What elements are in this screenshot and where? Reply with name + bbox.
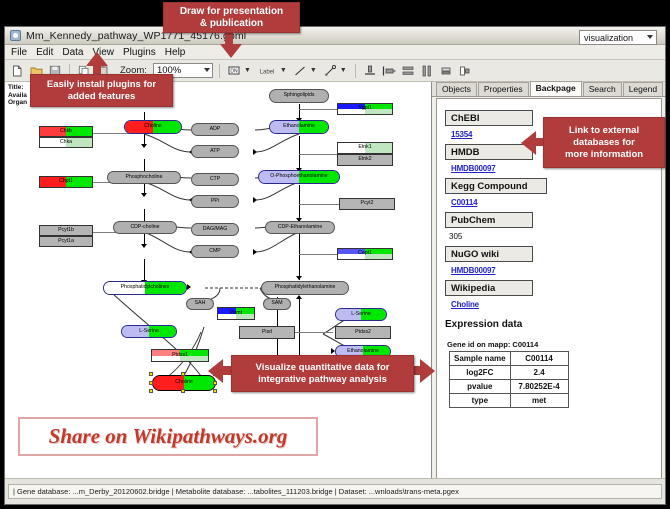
node-label: Pcyt2: [361, 201, 374, 206]
line-icon[interactable]: [292, 63, 308, 79]
edge: [299, 234, 300, 280]
chevron-down-icon: [647, 35, 653, 39]
node-ppi[interactable]: PPi: [191, 195, 239, 208]
node-sam[interactable]: SAM: [263, 298, 291, 310]
edge: [299, 254, 337, 255]
node-l-serine-left[interactable]: L-Serine: [121, 325, 177, 338]
callout-plugins-arrow: [86, 52, 108, 66]
arrow-icon: [187, 284, 191, 290]
gene-chka[interactable]: Chka: [39, 137, 93, 148]
kegg-link[interactable]: C00114: [451, 198, 661, 207]
node-atp[interactable]: ATP: [191, 145, 239, 158]
pathway-info-labels: Title: Availa Organ: [8, 84, 27, 107]
chevron-down-icon[interactable]: ▼: [310, 67, 317, 74]
pubchem-value: 305: [449, 232, 661, 241]
edge: [311, 332, 333, 333]
edge: [299, 136, 300, 170]
node-label: Sgpl1: [358, 106, 371, 111]
edge: [299, 185, 300, 221]
gene-pcyt1b[interactable]: Pcyt1b: [39, 225, 93, 236]
stack-icon[interactable]: [438, 63, 454, 79]
node-cmp[interactable]: CMP: [191, 245, 239, 258]
selection-handle[interactable]: [149, 372, 153, 376]
toolbar-separator: [219, 64, 220, 78]
node-label: Ethanolamine: [347, 349, 379, 354]
selection-handle[interactable]: [149, 381, 153, 385]
node-label: Cept1: [358, 251, 372, 256]
info-title-label: Title:: [8, 84, 27, 92]
node-label: Phosphatidylethanolamine: [275, 285, 336, 290]
node-label: CDP-choline: [130, 225, 159, 230]
anchor-icon[interactable]: [322, 63, 338, 79]
node-cdp-ethanolamine[interactable]: CDP-Ethanolamine: [265, 221, 335, 234]
arrow-icon: [253, 197, 257, 203]
cell-name: Sample name: [450, 352, 511, 366]
arrow-icon: [296, 276, 302, 280]
cell-name: type: [450, 394, 511, 408]
gene-pcyt1a[interactable]: Pcyt1a: [39, 236, 93, 247]
gene-chpt1[interactable]: Chpt1: [39, 176, 93, 188]
node-label: ADP: [210, 127, 221, 132]
arrow-icon: [253, 249, 257, 255]
table-row: pvalue 7.80252E-4: [450, 380, 569, 394]
node-label: Etnk1: [358, 145, 371, 150]
status-text: | Gene database: ...m_Derby_20120602.bri…: [8, 484, 662, 499]
menu-item-data[interactable]: Data: [62, 47, 83, 58]
status-bar: | Gene database: ...m_Derby_20120602.bri…: [5, 478, 665, 504]
app-icon: [10, 30, 21, 41]
node-sphingolipids[interactable]: Sphingolipids: [269, 89, 329, 103]
arrow-icon: [141, 144, 147, 148]
node-adp[interactable]: ADP: [191, 123, 239, 136]
node-label: Phosphatidylcholines: [121, 285, 170, 290]
cell-value: met: [510, 394, 568, 408]
tab-search[interactable]: Search: [583, 82, 622, 96]
node-label: Phosphocholine: [126, 175, 163, 180]
node-label: L-Serine: [139, 329, 159, 334]
side-panel-tabs: Objects Properties Backpage Search Legen…: [432, 82, 665, 97]
svg-text:DN: DN: [230, 69, 238, 75]
arrow-icon: [296, 295, 302, 299]
node-label: Pcyt1a: [58, 239, 74, 244]
callout-visualize: Visualize quantitative data for integrat…: [231, 355, 414, 392]
node-ctp[interactable]: CTP: [191, 173, 239, 186]
section-hmdb-header: HMDB: [445, 144, 533, 160]
gene-etnk2[interactable]: Etnk2: [337, 154, 393, 166]
callout-draw-line2: & publication: [180, 18, 283, 30]
gene-id-line: Gene id on mapp: C00114: [447, 340, 661, 349]
arrow-icon: [141, 244, 147, 248]
callout-draw-line1: Draw for presentation: [180, 6, 283, 18]
node-label: Pisd: [262, 330, 272, 335]
node-label: CDP-Ethanolamine: [278, 225, 322, 230]
section-nugo-header: NuGO wiki: [445, 246, 533, 262]
node-label: Pcyt1b: [58, 228, 74, 233]
gene-pemt[interactable]: Pemt: [217, 307, 255, 320]
callout-draw-arrow: [220, 44, 242, 58]
visualization-value: visualization: [584, 33, 633, 43]
menu-item-file[interactable]: File: [11, 47, 27, 58]
selection-handle[interactable]: [213, 389, 217, 393]
svg-text:Label: Label: [260, 69, 275, 75]
node-label: Ptdss2: [355, 330, 371, 335]
distribute-vertical-icon[interactable]: [400, 63, 416, 79]
gene-ptdss1[interactable]: Ptdss1: [151, 349, 209, 362]
callout-draw: Draw for presentation & publication: [163, 2, 300, 33]
gene-sgpl1[interactable]: Sgpl1: [337, 103, 393, 115]
selection-handle[interactable]: [149, 389, 153, 393]
node-o-phosphoethanolamine[interactable]: O-Phosphoethanolamine: [258, 170, 340, 184]
gene-cept1[interactable]: Cept1: [337, 248, 393, 260]
node-label: Ptdss1: [172, 353, 188, 358]
node-dag-mag[interactable]: DAG/MAG: [191, 223, 239, 236]
callout-plugins-line2: added features: [47, 91, 156, 103]
callout-link-line3: more information: [565, 149, 643, 161]
cell-value: 2.4: [510, 366, 568, 380]
node-label: L-Serine: [351, 312, 371, 317]
edge: [299, 204, 339, 205]
menu-item-edit[interactable]: Edit: [36, 47, 53, 58]
table-row: log2FC 2.4: [450, 366, 569, 380]
callout-link-line1: Link to external: [565, 125, 643, 137]
expression-data-heading: Expression data: [445, 319, 661, 330]
group-icon[interactable]: [457, 63, 473, 79]
section-chebi-header: ChEBI: [445, 110, 533, 126]
callout-visualize-line1: Visualize quantitative data for: [256, 362, 390, 374]
callout-plugins-line1: Easily install plugins for: [47, 79, 156, 91]
align-top-icon[interactable]: [362, 63, 378, 79]
gene-chkb[interactable]: Chkb: [39, 126, 93, 137]
screenshot-root: Mm_Kennedy_pathway_WP1771_45176.gpml Fil…: [0, 0, 670, 509]
callout-share: Share on Wikipathways.org: [18, 417, 318, 456]
menu-item-plugins[interactable]: Plugins: [123, 47, 156, 58]
arrow-icon: [253, 149, 257, 155]
node-label: DAG/MAG: [203, 227, 228, 232]
node-label: Ethanolamine: [283, 124, 315, 129]
gene-pisd[interactable]: Pisd: [239, 326, 295, 339]
node-label: Pemt: [230, 311, 242, 316]
cell-name: log2FC: [450, 366, 511, 380]
menu-item-help[interactable]: Help: [165, 47, 186, 58]
node-label: PPi: [211, 199, 219, 204]
node-ethanolamine-top[interactable]: Ethanolamine: [269, 120, 329, 134]
distribute-horizontal-icon[interactable]: [419, 63, 435, 79]
arrow-icon: [141, 193, 147, 197]
chevron-down-icon[interactable]: ▼: [244, 67, 251, 74]
callout-link: Link to external databases for more info…: [543, 117, 665, 168]
node-label: Sphingolipids: [284, 93, 315, 98]
node-label: Choline: [175, 380, 193, 385]
chevron-down-icon[interactable]: ▼: [280, 67, 287, 74]
callout-link-arrow: [521, 131, 536, 155]
arrow-icon: [331, 348, 335, 354]
node-phosphocholine[interactable]: Phosphocholine: [107, 171, 181, 184]
edge: [299, 109, 337, 110]
toolbar-separator: [355, 64, 356, 78]
node-label: Etnk2: [358, 157, 371, 162]
node-label: CMP: [209, 249, 221, 254]
table-row: type met: [450, 394, 569, 408]
selection-handle[interactable]: [181, 389, 185, 393]
node-label: ATP: [210, 149, 220, 154]
gene-pcyt2[interactable]: Pcyt2: [339, 198, 395, 210]
tab-properties[interactable]: Properties: [478, 82, 529, 96]
gene-etnk1[interactable]: Etnk1: [337, 142, 393, 154]
cell-name: pvalue: [450, 380, 511, 394]
table-row: Sample name C00114: [450, 352, 569, 366]
align-left-icon[interactable]: [381, 63, 397, 79]
node-label: SAM: [271, 301, 282, 306]
chevron-down-icon[interactable]: ▼: [340, 67, 347, 74]
title-bar: Mm_Kennedy_pathway_WP1771_45176.gpml: [5, 27, 665, 45]
callout-visualize-arrow: [208, 359, 223, 383]
callout-visualize-arrow-right: [420, 359, 435, 383]
node-sah[interactable]: SAH: [186, 298, 214, 310]
cell-value: C00114: [510, 352, 568, 366]
node-label: CTP: [210, 177, 220, 182]
node-label: SAH: [195, 301, 206, 306]
section-kegg-header: Kegg Compound: [445, 178, 547, 194]
label-icon[interactable]: Label: [256, 63, 278, 79]
nugo-link[interactable]: HMDB00097: [451, 266, 661, 275]
node-label: Chpt1: [59, 179, 73, 184]
new-file-icon[interactable]: [9, 63, 25, 79]
callout-share-text: Share on Wikipathways.org: [49, 424, 288, 449]
node-label: Choline: [144, 124, 162, 129]
section-wikipedia-header: Wikipedia: [445, 280, 533, 296]
selection-handle[interactable]: [181, 372, 185, 376]
node-l-serine-right[interactable]: L-Serine: [335, 308, 387, 321]
visualization-combobox[interactable]: visualization: [579, 30, 657, 45]
chevron-down-icon: [204, 68, 210, 72]
wikipedia-link[interactable]: Choline: [451, 300, 661, 309]
expression-table: Sample name C00114 log2FC 2.4 pvalue 7.8…: [449, 351, 569, 408]
node-phosphatidylcholines[interactable]: Phosphatidylcholines: [103, 281, 187, 295]
gene-ptdss2[interactable]: Ptdss2: [335, 326, 391, 339]
tab-backpage[interactable]: Backpage: [530, 81, 582, 96]
node-label: Chka: [60, 140, 72, 145]
node-choline-top[interactable]: Choline: [124, 120, 182, 134]
tab-legend[interactable]: Legend: [623, 82, 663, 96]
callout-plugins: Easily install plugins for added feature…: [30, 74, 173, 107]
info-organism-label: Organ: [8, 99, 27, 107]
info-availability-label: Availa: [8, 92, 27, 100]
node-phosphatidylethanolamine[interactable]: Phosphatidylethanolamine: [261, 281, 349, 295]
callout-visualize-line2: integrative pathway analysis: [256, 374, 390, 386]
tab-objects[interactable]: Objects: [436, 82, 477, 96]
node-cdp-choline[interactable]: CDP-choline: [113, 221, 177, 234]
datanode-icon[interactable]: DN: [226, 63, 242, 79]
cell-value: 7.80252E-4: [510, 380, 568, 394]
section-pubchem-header: PubChem: [445, 212, 533, 228]
callout-link-line2: databases for: [565, 137, 643, 149]
node-label: O-Phosphoethanolamine: [270, 174, 327, 179]
node-label: Chkb: [60, 129, 72, 134]
